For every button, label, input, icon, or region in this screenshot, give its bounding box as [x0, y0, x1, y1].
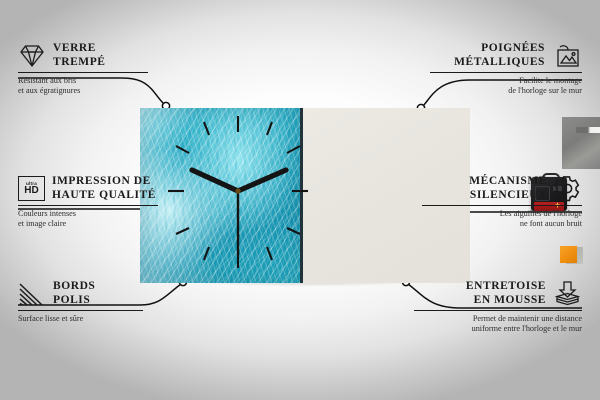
callout-rule: [18, 205, 158, 206]
callout-entretoise-en-mousse: ENTRETOISE EN MOUSSE Permet de maintenir…: [414, 280, 582, 334]
hour-hand: [192, 170, 238, 191]
product-photo: +: [140, 108, 470, 283]
metal-hanger-plate: [562, 117, 600, 169]
framed-picture-hook-icon: [552, 42, 582, 69]
polished-edge-icon: [18, 282, 46, 306]
clock-center-cap: [235, 188, 240, 193]
foam-spacer: [560, 246, 578, 264]
callout-desc: Permet de maintenir une distance uniform…: [414, 314, 582, 334]
callout-rule: [430, 72, 582, 73]
minute-hand: [238, 170, 286, 191]
callout-desc: Facilite le montage de l'horloge sur le …: [430, 76, 582, 96]
callout-rule: [422, 205, 582, 206]
callout-title: VERRE TREMPÉ: [53, 42, 106, 69]
clock-hands: [192, 170, 286, 255]
diamond-icon: [18, 43, 46, 69]
callout-title: BORDS POLIS: [53, 280, 95, 307]
clock-dial: [140, 108, 470, 283]
callout-rule: [414, 310, 582, 311]
callout-verre-trempe: VERRE TREMPÉ Résistant aux bris et aux é…: [18, 42, 148, 96]
foam-spacer-top: [560, 246, 577, 263]
callout-impression-haute-qualite: ultra HD IMPRESSION DE HAUTE QUALITÉ Cou…: [18, 175, 158, 229]
callout-mecanisme-silencieux: MÉCANISME SILENCIEUX Les aiguilles de l'…: [422, 175, 582, 229]
ultra-hd-icon: ultra HD: [18, 176, 45, 201]
ultra-hd-large-text: HD: [24, 186, 38, 197]
callout-desc: Résistant aux bris et aux égratignures: [18, 76, 148, 96]
callout-desc: Couleurs intenses et image claire: [18, 209, 158, 229]
hanger-slot: [576, 127, 600, 133]
callout-bords-polis: BORDS POLIS Surface lisse et sûre: [18, 280, 143, 324]
callout-desc: Surface lisse et sûre: [18, 314, 143, 324]
callout-rule: [18, 310, 143, 311]
callout-title: MÉCANISME SILENCIEUX: [469, 175, 547, 202]
gear-icon: [554, 175, 582, 202]
callout-desc: Les aiguilles de l'horloge ne font aucun…: [422, 209, 582, 229]
callout-poignees-metalliques: POIGNÉES MÉTALLIQUES Facilite le montage…: [430, 42, 582, 96]
infographic-canvas: +: [0, 0, 600, 400]
callout-title: IMPRESSION DE HAUTE QUALITÉ: [52, 175, 156, 202]
callout-title: POIGNÉES MÉTALLIQUES: [454, 42, 545, 69]
callout-title: ENTRETOISE EN MOUSSE: [466, 280, 546, 307]
foam-spacer-arrow-icon: [553, 280, 582, 307]
callout-rule: [18, 72, 148, 73]
